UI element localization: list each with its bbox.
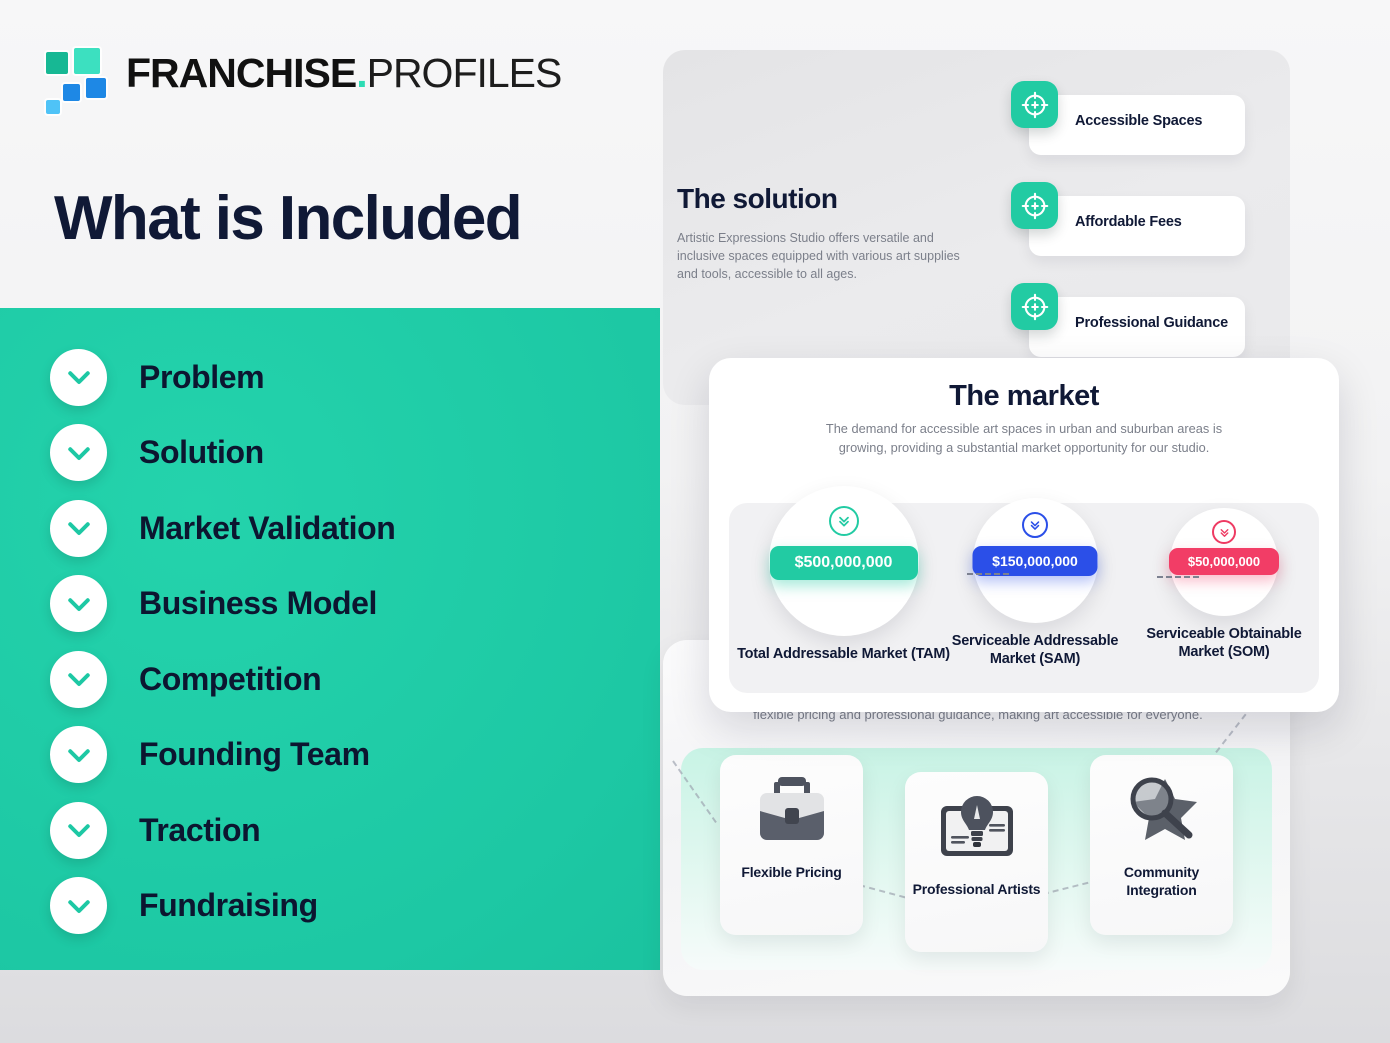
chevron-down-icon[interactable] (50, 802, 107, 859)
market-segment-value: $150,000,000 (973, 546, 1098, 576)
agenda-list: Problem Solution Market Validation Busin… (50, 348, 610, 952)
brand-logo[interactable]: FRANCHISE.PROFILES (46, 48, 561, 98)
value-prop-card[interactable]: Community Integration (1090, 755, 1233, 935)
market-segment-label: Serviceable Obtainable Market (SOM) (1129, 626, 1319, 661)
solution-feature[interactable]: Accessible Spaces (1011, 81, 1245, 147)
chevron-down-icon[interactable] (50, 424, 107, 481)
list-item[interactable]: Market Validation (50, 499, 610, 557)
solution-description: Artistic Expressions Studio offers versa… (677, 229, 967, 283)
chevron-down-icon[interactable] (50, 726, 107, 783)
briefcase-icon (749, 771, 835, 854)
list-item[interactable]: Traction (50, 801, 610, 859)
solution-header: The solution Artistic Expressions Studio… (677, 183, 967, 283)
market-segment-circle: $500,000,000 (769, 486, 919, 636)
solution-feature[interactable]: Affordable Fees (1011, 182, 1245, 248)
solution-feature-label: Affordable Fees (1075, 214, 1182, 230)
crosshair-icon (1011, 283, 1058, 330)
market-segment-som[interactable]: $50,000,000 Serviceable Obtainable Marke… (1129, 508, 1319, 661)
value-prop-label: Community Integration (1090, 864, 1233, 899)
brand-dot: . (356, 50, 366, 96)
brand-wordmark: FRANCHISE.PROFILES (126, 53, 561, 94)
list-item[interactable]: Solution (50, 424, 610, 482)
solution-feature[interactable]: Professional Guidance (1011, 283, 1245, 349)
double-chevron-down-icon (1212, 520, 1236, 544)
market-segment-label: Total Addressable Market (TAM) (731, 646, 956, 664)
list-item[interactable]: Problem (50, 348, 610, 406)
market-segment-circle: $150,000,000 (973, 498, 1098, 623)
market-segment-sam[interactable]: $150,000,000 Serviceable Addressable Mar… (937, 498, 1133, 668)
value-prop-card[interactable]: Flexible Pricing (720, 755, 863, 935)
double-chevron-down-icon (1022, 512, 1048, 538)
chevron-down-icon[interactable] (50, 877, 107, 934)
list-item[interactable]: Fundraising (50, 877, 610, 935)
logo-square-3 (86, 78, 106, 98)
logo-square-4 (63, 84, 80, 101)
list-item-label: Solution (139, 434, 264, 471)
list-item-label: Competition (139, 661, 321, 698)
market-segment-circle: $50,000,000 (1170, 508, 1278, 616)
market-segment-value: $500,000,000 (770, 546, 918, 580)
market-segment-value: $50,000,000 (1169, 548, 1279, 575)
list-item-label: Traction (139, 812, 260, 849)
brand-name-bold: FRANCHISE (126, 50, 356, 96)
lightbulb-certificate-icon (933, 788, 1021, 871)
list-item[interactable]: Competition (50, 650, 610, 708)
logo-mark-icon (46, 48, 108, 98)
solution-title: The solution (677, 183, 967, 215)
star-magnifier-icon (1117, 771, 1207, 854)
chevron-down-icon[interactable] (50, 651, 107, 708)
market-slide-card[interactable]: The market The demand for accessible art… (709, 358, 1339, 712)
list-item-label: Founding Team (139, 736, 370, 773)
list-item-label: Business Model (139, 585, 377, 622)
list-item-label: Problem (139, 359, 264, 396)
crosshair-icon (1011, 81, 1058, 128)
value-prop-label: Flexible Pricing (741, 864, 841, 882)
preview-stack: The solution Artistic Expressions Studio… (663, 0, 1390, 1043)
logo-square-5 (46, 100, 60, 114)
list-item[interactable]: Founding Team (50, 726, 610, 784)
market-segment-tam[interactable]: $500,000,000 Total Addressable Market (T… (731, 486, 956, 664)
page-title: What is Included (54, 188, 521, 250)
crosshair-icon (1011, 182, 1058, 229)
brand-name-light: PROFILES (367, 50, 562, 96)
logo-square-2 (74, 48, 100, 74)
chevron-down-icon[interactable] (50, 500, 107, 557)
chevron-down-icon[interactable] (50, 349, 107, 406)
value-prop-label: Professional Artists (913, 881, 1041, 899)
solution-feature-label: Accessible Spaces (1075, 113, 1202, 129)
value-prop-card[interactable]: Professional Artists (905, 772, 1048, 952)
list-item-label: Market Validation (139, 510, 395, 547)
list-item[interactable]: Business Model (50, 575, 610, 633)
market-description: The demand for accessible art spaces in … (819, 420, 1229, 457)
solution-slide-card[interactable]: The solution Artistic Expressions Studio… (663, 50, 1290, 405)
list-item-label: Fundraising (139, 887, 318, 924)
market-connector-line (967, 573, 1009, 575)
logo-square-1 (46, 52, 68, 74)
chevron-down-icon[interactable] (50, 575, 107, 632)
market-connector-line (1157, 576, 1199, 578)
solution-feature-label: Professional Guidance (1075, 315, 1228, 331)
double-chevron-down-icon (829, 506, 859, 536)
market-title: The market (709, 380, 1339, 413)
market-segment-label: Serviceable Addressable Market (SAM) (937, 633, 1133, 668)
